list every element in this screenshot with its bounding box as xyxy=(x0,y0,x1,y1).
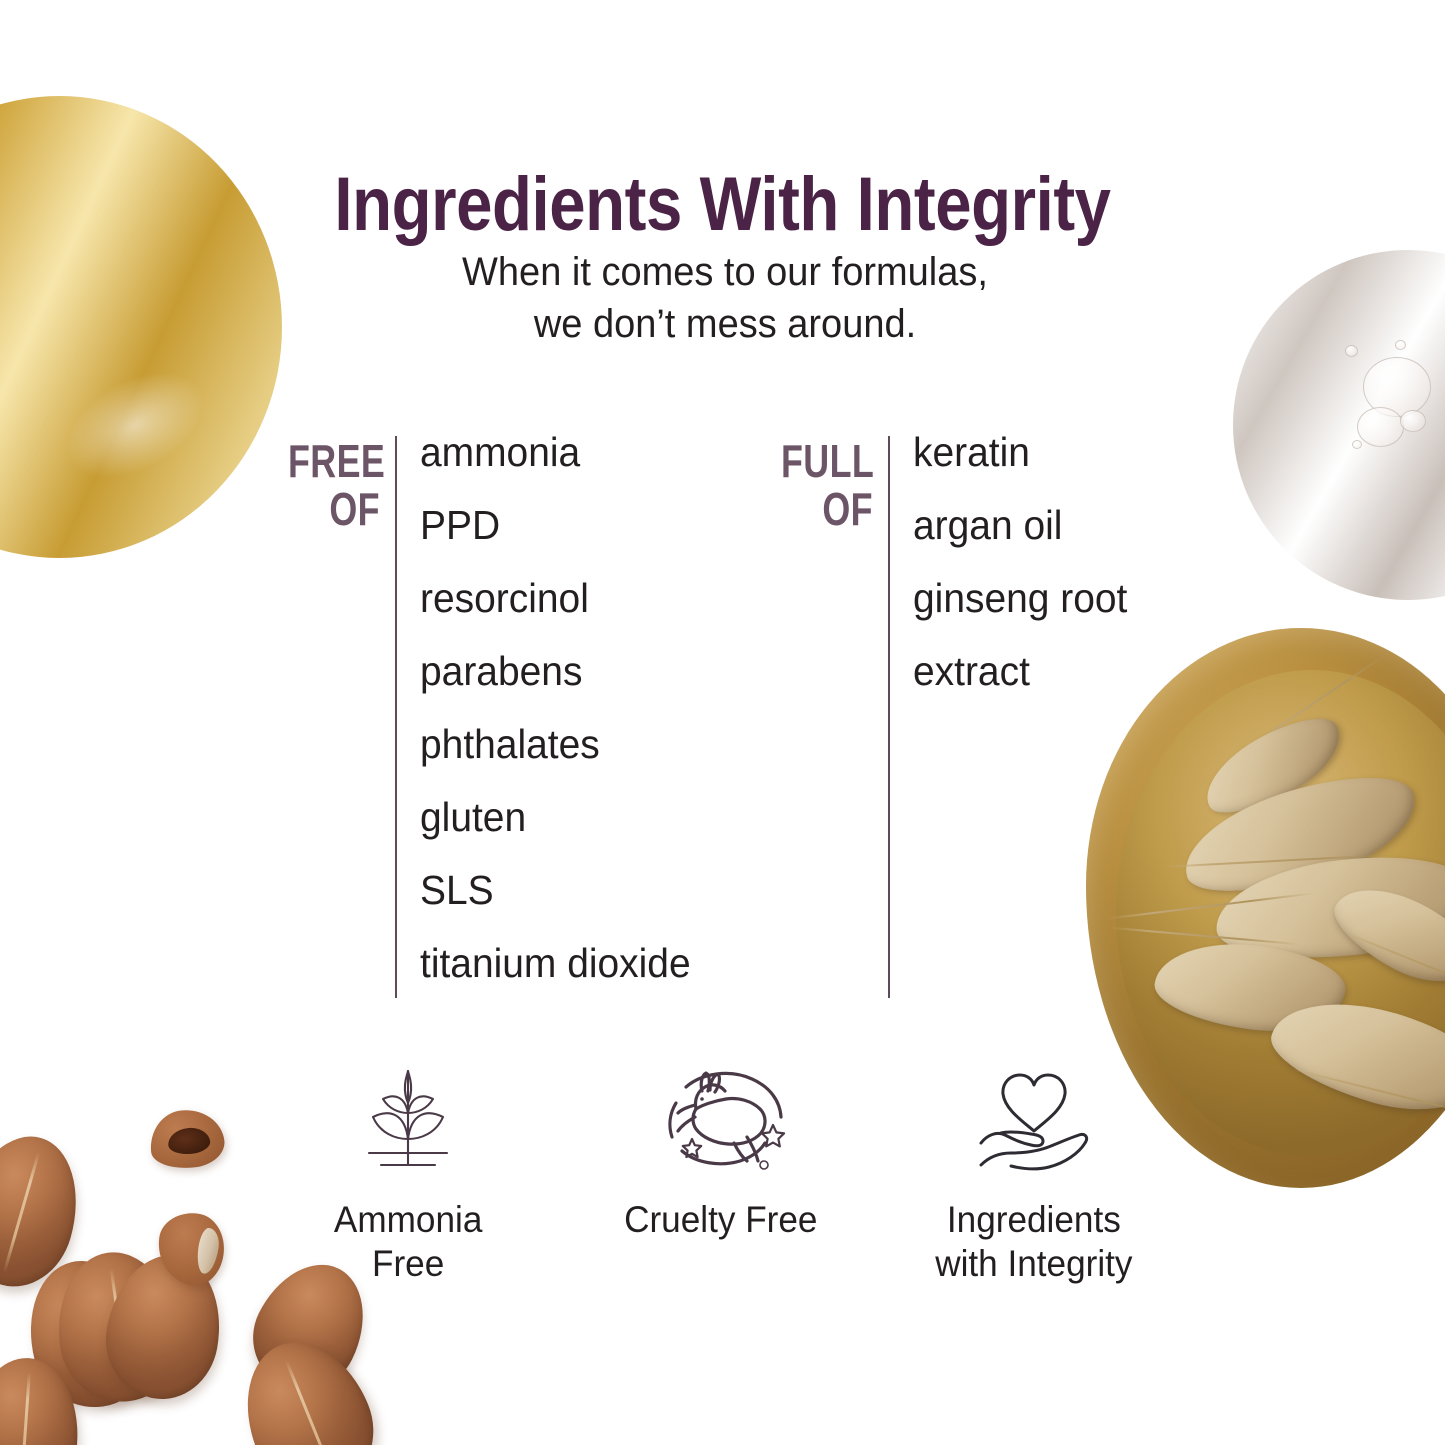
list-item: argan oil xyxy=(913,505,1127,547)
badge-label: Ammonia Free xyxy=(334,1198,482,1285)
full-of-label-line-1: FULL xyxy=(781,438,873,486)
subtitle-line-1: When it comes to our formulas, xyxy=(321,246,1129,298)
heart-in-hand-icon xyxy=(969,1062,1099,1180)
free-of-label-line-2: OF xyxy=(288,486,380,534)
full-of-list: keratin argan oil ginseng root extract xyxy=(913,432,1139,724)
badge-label-line-1: Cruelty Free xyxy=(624,1198,817,1242)
list-item: titanium dioxide xyxy=(420,943,691,985)
list-item: phthalates xyxy=(420,724,691,766)
list-item: gluten xyxy=(420,797,691,839)
badge-ammonia-free: Ammonia Free xyxy=(252,1062,564,1285)
subtitle: When it comes to our formulas, we don’t … xyxy=(321,246,1129,350)
full-of-divider xyxy=(888,436,890,998)
list-item: ginseng root xyxy=(913,578,1127,620)
list-item: extract xyxy=(913,651,1127,693)
gel-bubble-icon xyxy=(1400,410,1426,432)
list-item: SLS xyxy=(420,870,691,912)
list-item: resorcinol xyxy=(420,578,691,620)
full-of-label: FULL OF xyxy=(781,438,873,534)
badge-label-line-2: Free xyxy=(334,1242,482,1286)
free-of-label-line-1: FREE xyxy=(288,438,380,486)
list-item: parabens xyxy=(420,651,691,693)
gel-bubble-icon xyxy=(1395,340,1406,350)
list-item: keratin xyxy=(913,432,1127,474)
badge-label-line-2: with Integrity xyxy=(935,1242,1132,1286)
badge-label: Cruelty Free xyxy=(624,1198,817,1242)
list-item: ammonia xyxy=(420,432,691,474)
full-of-label-line-2: OF xyxy=(781,486,873,534)
free-of-label: FREE OF xyxy=(288,438,380,534)
badge-row: Ammonia Free xyxy=(252,1062,1190,1285)
gel-bubble-icon xyxy=(1352,440,1362,449)
list-item: PPD xyxy=(420,505,691,547)
gel-bubble-icon xyxy=(1345,345,1358,357)
sprout-plant-icon xyxy=(353,1062,463,1180)
gel-bubble-icon xyxy=(1357,407,1404,447)
badge-ingredients-with-integrity: Ingredients with Integrity xyxy=(878,1062,1190,1285)
leaping-bunny-icon xyxy=(648,1062,794,1180)
badge-label-line-1: Ammonia xyxy=(334,1198,482,1242)
page-title: Ingredients With Integrity xyxy=(101,161,1344,248)
badge-label-line-1: Ingredients xyxy=(935,1198,1132,1242)
free-of-list: ammonia PPD resorcinol parabens phthalat… xyxy=(420,432,705,1016)
free-of-divider xyxy=(395,436,397,998)
ingredients-infographic: Ingredients With Integrity When it comes… xyxy=(0,0,1445,1445)
badge-label: Ingredients with Integrity xyxy=(935,1198,1132,1285)
badge-cruelty-free: Cruelty Free xyxy=(565,1062,877,1285)
subtitle-line-2: we don’t mess around. xyxy=(321,298,1129,350)
